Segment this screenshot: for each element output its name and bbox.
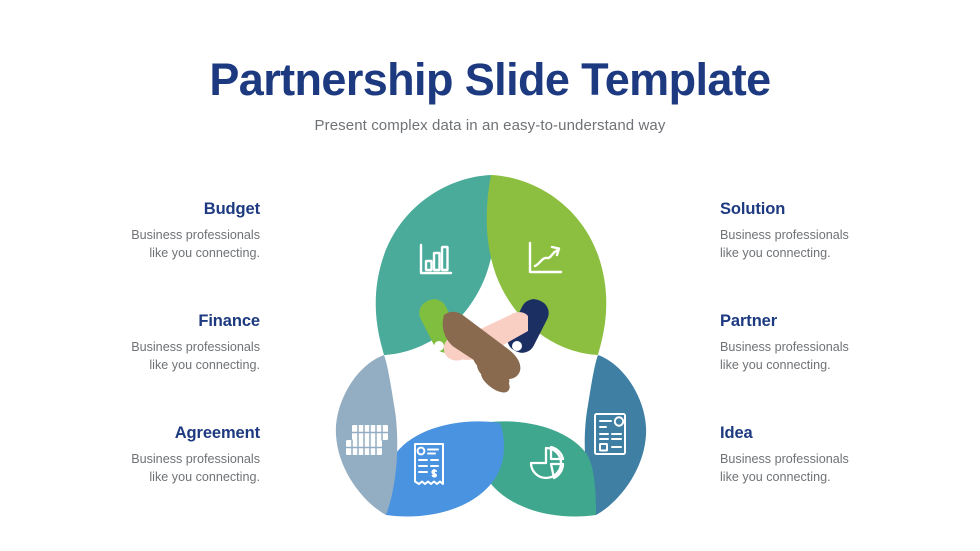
label-title-partner: Partner bbox=[720, 312, 935, 331]
petal-agreement[interactable] bbox=[386, 421, 504, 516]
label-block-solution[interactable]: Solution Business professionals like you… bbox=[720, 200, 935, 263]
label-block-budget[interactable]: Budget Business professionals like you c… bbox=[45, 200, 260, 263]
label-title-agreement: Agreement bbox=[45, 424, 260, 443]
money-stack-icon bbox=[346, 425, 388, 455]
label-desc-solution: Business professionals like you connecti… bbox=[720, 227, 935, 263]
petal-diagram bbox=[296, 165, 686, 525]
label-title-idea: Idea bbox=[720, 424, 935, 443]
handshake-illustration bbox=[415, 295, 553, 393]
page-title: Partnership Slide Template bbox=[0, 56, 980, 105]
label-desc-idea: Business professionals like you connecti… bbox=[720, 451, 935, 487]
page-subtitle: Present complex data in an easy-to-under… bbox=[0, 117, 980, 134]
label-desc-budget: Business professionals like you connecti… bbox=[45, 227, 260, 263]
label-title-budget: Budget bbox=[45, 200, 260, 219]
label-desc-partner: Business professionals like you connecti… bbox=[720, 339, 935, 375]
label-desc-finance: Business professionals like you connecti… bbox=[45, 339, 260, 375]
petal-finance[interactable] bbox=[336, 355, 397, 515]
label-title-finance: Finance bbox=[45, 312, 260, 331]
petal-shape-agreement[interactable] bbox=[386, 421, 504, 516]
label-block-finance[interactable]: Finance Business professionals like you … bbox=[45, 312, 260, 375]
label-block-partner[interactable]: Partner Business professionals like you … bbox=[720, 312, 935, 375]
label-block-idea[interactable]: Idea Business professionals like you con… bbox=[720, 424, 935, 487]
label-title-solution: Solution bbox=[720, 200, 935, 219]
label-desc-agreement: Business professionals like you connecti… bbox=[45, 451, 260, 487]
label-block-agreement[interactable]: Agreement Business professionals like yo… bbox=[45, 424, 260, 487]
